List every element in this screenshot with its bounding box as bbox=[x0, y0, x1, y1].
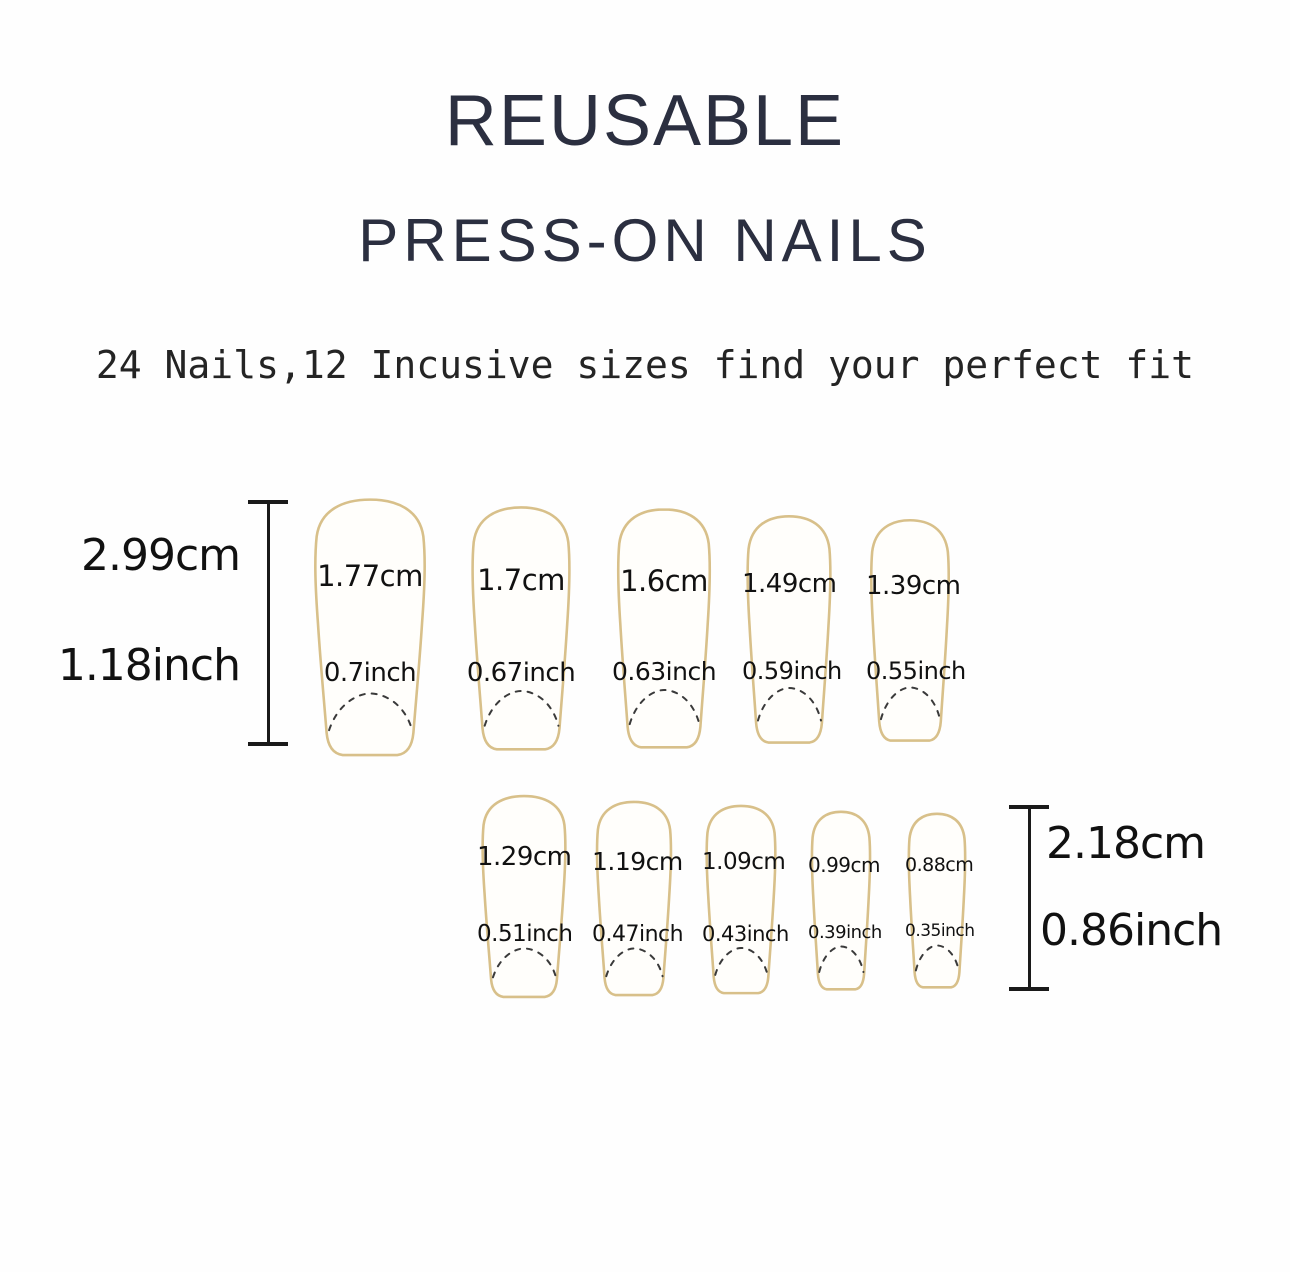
nail-swatch[interactable]: 1.7cm0.67inch bbox=[466, 505, 576, 753]
nail-width-inch-label: 0.51inch bbox=[477, 921, 571, 947]
nail-swatch[interactable]: 1.39cm0.55inch bbox=[866, 518, 954, 744]
nail-outline-icon bbox=[866, 518, 954, 744]
measurement-right-inch: 0.86inch bbox=[1040, 905, 1280, 956]
nail-width-cm-label: 1.29cm bbox=[477, 842, 571, 872]
nail-width-cm-label: 0.99cm bbox=[808, 853, 874, 877]
nail-swatch[interactable]: 1.09cm0.43inch bbox=[702, 804, 780, 996]
nail-width-cm-label: 0.88cm bbox=[905, 854, 969, 876]
nail-swatch[interactable]: 0.88cm0.35inch bbox=[905, 812, 969, 990]
nail-swatch[interactable]: 1.19cm0.47inch bbox=[592, 800, 676, 998]
measurement-bar-right bbox=[1009, 805, 1049, 991]
nail-width-cm-label: 1.77cm bbox=[308, 559, 432, 593]
page-title-line1: REUSABLE bbox=[0, 80, 1290, 162]
nail-outline-icon bbox=[702, 804, 780, 996]
measurement-cap-bottom bbox=[248, 742, 288, 746]
nail-width-inch-label: 0.67inch bbox=[466, 658, 576, 688]
measurement-right-cm: 2.18cm bbox=[1046, 818, 1266, 869]
nail-swatch[interactable]: 1.29cm0.51inch bbox=[477, 794, 571, 1000]
nail-width-cm-label: 1.6cm bbox=[612, 564, 716, 598]
nail-outline-icon bbox=[466, 505, 576, 753]
measurement-left-inch: 1.18inch bbox=[48, 640, 240, 691]
nail-width-inch-label: 0.35inch bbox=[905, 921, 969, 941]
nail-width-cm-label: 1.49cm bbox=[742, 569, 836, 599]
nail-width-inch-label: 0.55inch bbox=[866, 657, 954, 685]
nail-width-inch-label: 0.59inch bbox=[742, 657, 836, 685]
nail-width-inch-label: 0.39inch bbox=[808, 922, 874, 943]
measurement-left-cm: 2.99cm bbox=[68, 530, 240, 581]
nail-outline-icon bbox=[477, 794, 571, 1000]
nail-swatch[interactable]: 1.49cm0.59inch bbox=[742, 514, 836, 746]
measurement-bar-left bbox=[248, 500, 288, 746]
nail-width-inch-label: 0.63inch bbox=[612, 657, 716, 686]
nail-width-cm-label: 1.09cm bbox=[702, 849, 780, 875]
nail-swatch[interactable]: 0.99cm0.39inch bbox=[808, 810, 874, 992]
page-title-line2: PRESS-ON NAILS bbox=[0, 206, 1290, 275]
nail-width-inch-label: 0.7inch bbox=[308, 658, 432, 688]
measurement-stem bbox=[1028, 805, 1031, 991]
nail-width-inch-label: 0.43inch bbox=[702, 922, 780, 946]
nail-swatch[interactable]: 1.6cm0.63inch bbox=[612, 507, 716, 751]
nail-outline-icon bbox=[808, 810, 874, 992]
nail-width-cm-label: 1.39cm bbox=[866, 571, 954, 601]
measurement-stem bbox=[267, 500, 270, 746]
nail-outline-icon bbox=[308, 497, 432, 759]
nail-outline-icon bbox=[592, 800, 676, 998]
page-subtitle: 24 Nails,12 Incusive sizes find your per… bbox=[0, 343, 1290, 387]
nail-outline-icon bbox=[905, 812, 969, 990]
nail-outline-icon bbox=[742, 514, 836, 746]
nail-width-inch-label: 0.47inch bbox=[592, 922, 676, 947]
measurement-cap-bottom bbox=[1009, 987, 1049, 991]
nail-swatch[interactable]: 1.77cm0.7inch bbox=[308, 497, 432, 759]
nail-width-cm-label: 1.19cm bbox=[592, 847, 676, 876]
nail-width-cm-label: 1.7cm bbox=[466, 563, 576, 597]
nail-size-chart-page: REUSABLE PRESS-ON NAILS 24 Nails,12 Incu… bbox=[0, 0, 1290, 1272]
nail-outline-icon bbox=[612, 507, 716, 751]
